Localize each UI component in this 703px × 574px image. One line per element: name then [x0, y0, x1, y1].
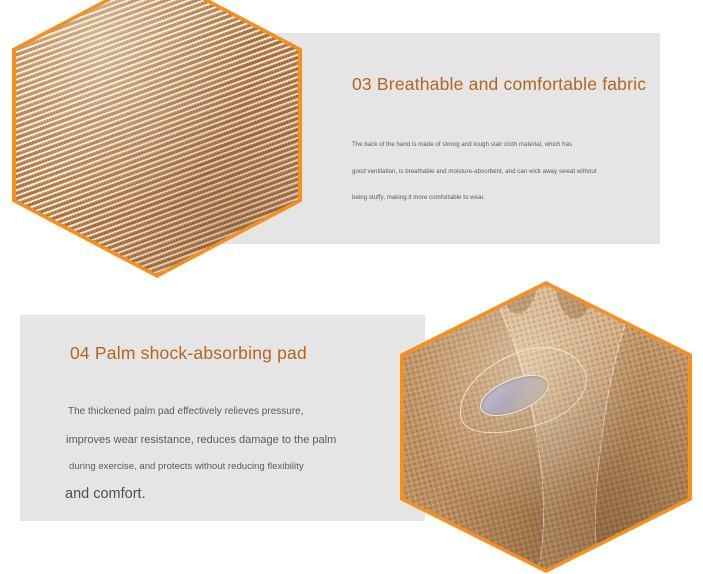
- section-04-heading: 04 Palm shock-absorbing pad: [70, 343, 307, 364]
- section-03-heading: 03 Breathable and comfortable fabric: [352, 74, 646, 95]
- section-04-body-line-4: and comfort.: [65, 486, 146, 502]
- section-04-body-line-3: during exercise, and protects without re…: [69, 461, 304, 472]
- section-03-body-line-2: good ventilation, is breathable and mois…: [352, 168, 597, 175]
- section-04-body-line-2: improves wear resistance, reduces damage…: [66, 434, 336, 446]
- palm-shading-overlay: [404, 285, 688, 569]
- section-04-body-line-1: The thickened palm pad effectively relie…: [68, 406, 304, 417]
- glove-palm-photo: [404, 285, 688, 569]
- section-03-body-line-1: The back of the hand is made of strong a…: [352, 141, 572, 148]
- hexagon-frame-palm: [400, 281, 692, 573]
- section-03-body-line-3: being stuffy, making it more comfortable…: [352, 194, 485, 201]
